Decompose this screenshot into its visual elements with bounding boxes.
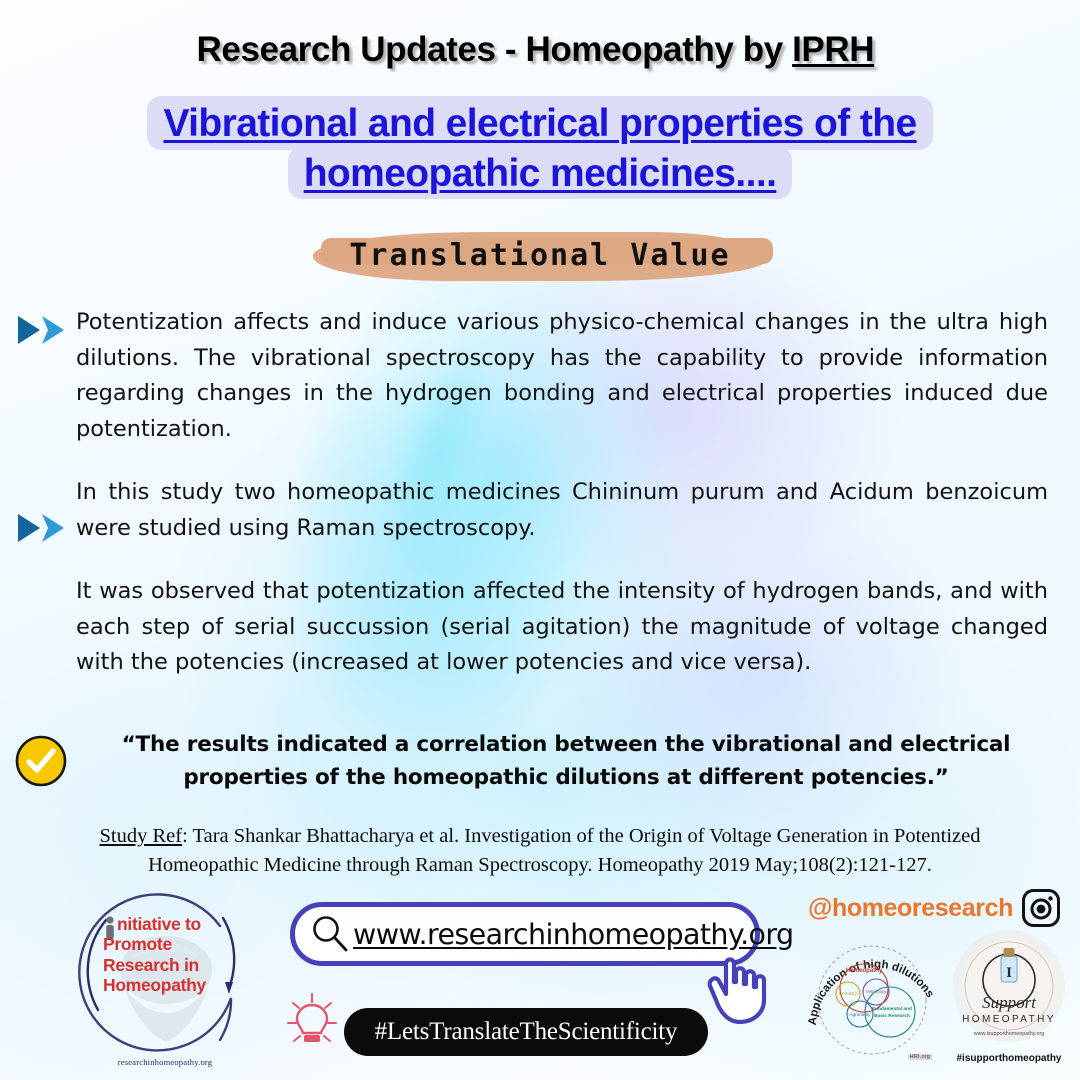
svg-text:Dentistry: Dentistry xyxy=(839,991,858,996)
article-title-line-1: Vibrational and electrical properties of… xyxy=(147,96,932,150)
poster-canvas: Research Updates - Homeopathy by IPRH Vi… xyxy=(0,0,1080,1080)
study-reference: Study Ref: Tara Shankar Bhattacharya et … xyxy=(52,822,1028,880)
chevron-bullet-icon xyxy=(14,511,70,545)
iprh-logo-text: nitiative to Promote Research in Homeopa… xyxy=(103,914,239,995)
iprh-logo-line-2: Promote xyxy=(103,934,239,954)
results-quote-row: “The results indicated a correlation bet… xyxy=(0,728,1080,795)
hashtag-text: #LetsTranslateTheScientificity xyxy=(375,1018,678,1046)
poster-header: Research Updates - Homeopathy by IPRH xyxy=(0,30,1080,70)
iprh-logo-line-1: nitiative to xyxy=(103,914,239,934)
paragraph-1: Potentization affects and induce various… xyxy=(76,305,1048,447)
check-circle-icon xyxy=(14,734,68,788)
website-search-bar[interactable]: www.researchinhomeopathy.org xyxy=(290,902,760,966)
paragraph-3-text: It was observed that potentization affec… xyxy=(76,578,1048,675)
poster-footer: nitiative to Promote Research in Homeopa… xyxy=(0,880,1080,1080)
venn-badge-source: HRI.org xyxy=(908,1054,932,1060)
svg-text:www.isupporthomeopathy.org: www.isupporthomeopathy.org xyxy=(973,1031,1045,1037)
section-label-wrapper: Translational Value xyxy=(0,228,1080,285)
paragraph-1-text: Potentization affects and induce various… xyxy=(76,309,1048,442)
lightbulb-icon xyxy=(285,992,339,1048)
body-content: Potentization affects and induce various… xyxy=(0,305,1080,681)
hashtag-pill[interactable]: #LetsTranslateTheScientificity xyxy=(344,1008,708,1056)
support-homeopathy-badge: I Support HOMEOPATHY www.isupporthomeopa… xyxy=(950,928,1068,1064)
instagram-handle: @homeoresearch xyxy=(808,894,1013,923)
svg-text:Homeopathy: Homeopathy xyxy=(846,968,883,974)
svg-text:HOMEOPATHY: HOMEOPATHY xyxy=(962,1014,1056,1025)
paragraph-2-text: In this study two homeopathic medicines … xyxy=(76,479,1048,541)
search-icon xyxy=(309,913,351,955)
paragraph-2: In this study two homeopathic medicines … xyxy=(76,475,1048,546)
svg-text:I: I xyxy=(1006,965,1012,981)
study-reference-text: : Tara Shankar Bhattacharya et al. Inves… xyxy=(148,825,980,876)
iprh-logo[interactable]: nitiative to Promote Research in Homeopa… xyxy=(70,890,260,1075)
article-title: Vibrational and electrical properties of… xyxy=(0,96,1080,199)
iprh-logo-url: researchinhomeopathy.org xyxy=(70,1057,260,1067)
article-title-line-2: homeopathic medicines.... xyxy=(288,146,793,200)
svg-text:Veterinary: Veterinary xyxy=(866,989,887,994)
svg-text:Support: Support xyxy=(982,993,1037,1012)
svg-text:Basic Research: Basic Research xyxy=(874,1013,910,1019)
support-badge-tag: #isupporthomeopathy xyxy=(950,1053,1068,1064)
header-text: Research Updates - Homeopathy by xyxy=(197,30,793,69)
study-reference-label: Study Ref xyxy=(100,825,183,847)
instagram-icon[interactable] xyxy=(1021,888,1061,928)
section-label-text: Translational Value xyxy=(349,238,730,273)
svg-text:Agronomy: Agronomy xyxy=(850,1012,872,1017)
svg-text:Fundamental and: Fundamental and xyxy=(872,1006,912,1012)
iprh-logo-line-3: Research in xyxy=(103,955,239,975)
header-org-iprh: IPRH xyxy=(792,30,874,69)
paragraph-3: It was observed that potentization affec… xyxy=(76,574,1048,681)
instagram-row[interactable]: @homeoresearch xyxy=(808,888,1061,928)
chevron-bullet-icon xyxy=(14,313,70,347)
high-dilutions-badge: Application of high dilutions Homeopathy… xyxy=(806,938,936,1062)
results-quote-text: “The results indicated a correlation bet… xyxy=(76,728,1056,795)
brush-highlight: Translational Value xyxy=(313,228,766,285)
hand-cursor-icon xyxy=(700,942,786,1028)
iprh-logo-line-4: Homeopathy xyxy=(103,975,239,995)
